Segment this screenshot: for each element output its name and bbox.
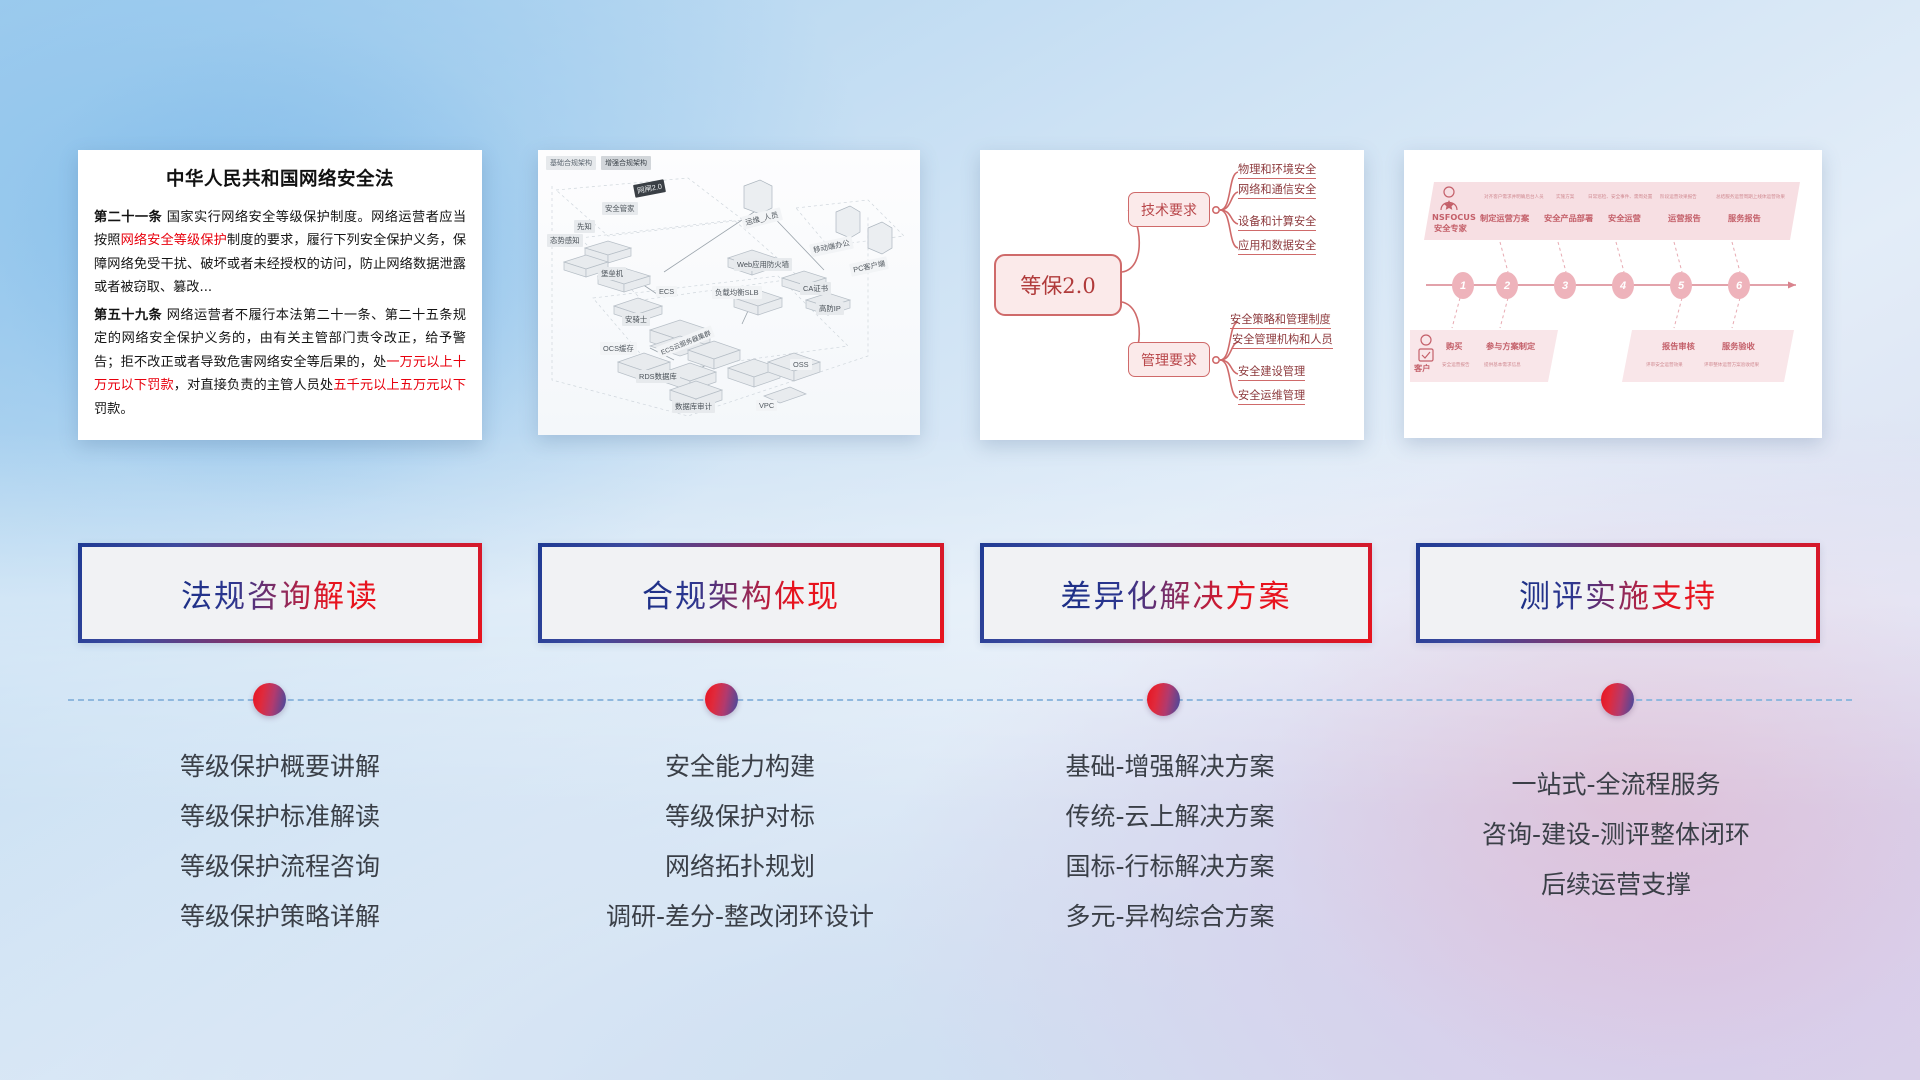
nsfocus-bottom-step-label: 服务验收 bbox=[1722, 340, 1755, 352]
nsfocus-top-step-label: 运营报告 bbox=[1668, 212, 1701, 224]
list-item: 多元-异构综合方案 bbox=[1065, 892, 1274, 942]
list-item: 等级保护对标 bbox=[665, 792, 815, 842]
nsfocus-step-number: 4 bbox=[1612, 272, 1634, 299]
mindmap-leaf: 安全运维管理 bbox=[1238, 387, 1305, 405]
node-label-slb: 负载均衡SLB bbox=[712, 286, 762, 299]
nsfocus-step-number: 6 bbox=[1728, 272, 1750, 299]
law-paragraph: 第五十九条 网络运营者不履行本法第二十一条、第二十五条规定的网络安全保护义务的，… bbox=[94, 304, 466, 422]
timeline-dot-3 bbox=[1147, 683, 1180, 716]
law-article-number: 第二十一条 bbox=[94, 210, 162, 225]
heading-box-differentiated-solution[interactable]: 差异化解决方案 bbox=[980, 543, 1372, 643]
list-item: 咨询-建设-测评整体闭环 bbox=[1482, 810, 1750, 860]
nsfocus-top-step-label: 安全运营 bbox=[1608, 212, 1641, 224]
heading-label: 合规架构体现 bbox=[642, 571, 840, 616]
list-item: 等级保护概要讲解 bbox=[180, 742, 380, 792]
law-title: 中华人民共和国网络安全法 bbox=[94, 164, 466, 197]
law-run: ，对直接负责的主管人员处 bbox=[174, 378, 333, 393]
node-label-situation-awareness: 态势感知 bbox=[547, 234, 583, 247]
law-article-number: 第五十九条 bbox=[94, 308, 162, 323]
law-run-highlight: 网络安全等级保护 bbox=[121, 233, 227, 248]
architecture-diagram: 基础合规架构 增强合规架构 bbox=[538, 150, 920, 435]
node-label-xianzhi: 先知 bbox=[574, 220, 595, 233]
heading-label: 法规咨询解读 bbox=[181, 571, 379, 616]
law-paragraph: 第二十一条 国家实行网络安全等级保护制度。网络运营者应当按照网络安全等级保护制度… bbox=[94, 206, 466, 300]
nsfocus-bottom-step-sub: 提供基本需求信息 bbox=[1484, 362, 1521, 368]
mindmap-leaf: 安全建设管理 bbox=[1238, 363, 1305, 381]
nsfocus-step-number: 1 bbox=[1452, 272, 1474, 299]
timeline-dot-1 bbox=[253, 683, 286, 716]
mindmap-leaf: 安全策略和管理制度 bbox=[1230, 311, 1331, 329]
heading-box-assessment-support[interactable]: 测评实施支持 bbox=[1416, 543, 1820, 643]
heading-box-compliance-architecture[interactable]: 合规架构体现 bbox=[538, 543, 944, 643]
node-label-db-audit: 数据库审计 bbox=[672, 400, 715, 413]
list-item: 等级保护标准解读 bbox=[180, 792, 380, 842]
heading-label: 测评实施支持 bbox=[1519, 571, 1717, 616]
heading-row: 法规咨询解读 合规架构体现 差异化解决方案 测评实施支持 bbox=[0, 543, 1920, 643]
mindmap-leaf: 应用和数据安全 bbox=[1238, 237, 1316, 255]
node-label-vpc: VPC bbox=[756, 400, 777, 411]
list-item: 后续运营支撑 bbox=[1541, 860, 1691, 910]
nsfocus-top-step-sub: 总结服务运营周期上线体运营效果 bbox=[1716, 194, 1785, 200]
node-label-ocs-cache: OCS缓存 bbox=[600, 342, 637, 355]
list-item: 等级保护流程咨询 bbox=[180, 842, 380, 892]
nsfocus-bottom-step-sub: 评审整体运营方案验收结果 bbox=[1704, 362, 1759, 368]
illustration-card-row: 中华人民共和国网络安全法 第二十一条 国家实行网络安全等级保护制度。网络运营者应… bbox=[0, 150, 1920, 440]
feature-lists: 等级保护概要讲解 等级保护标准解读 等级保护流程咨询 等级保护策略详解 安全能力… bbox=[0, 742, 1920, 982]
feature-list-differentiated-solution: 基础-增强解决方案 传统-云上解决方案 国标-行标解决方案 多元-异构综合方案 bbox=[960, 742, 1380, 942]
timeline-dashed-line bbox=[68, 699, 1852, 701]
law-run-highlight: 五千元以上五万元以下 bbox=[333, 378, 466, 393]
node-label-security-steward: 安全管家 bbox=[602, 202, 638, 215]
nsfocus-step-number: 3 bbox=[1554, 272, 1576, 299]
node-label-anti-ddos-ip: 高防IP bbox=[816, 302, 844, 315]
node-label-waf: Web应用防火墙 bbox=[734, 258, 792, 271]
feature-list-compliance-architecture: 安全能力构建 等级保护对标 网络拓扑规划 调研-差分-整改闭环设计 bbox=[530, 742, 950, 942]
nsfocus-timeline: NSFOCUS 安全专家 客户 对齐客户需求并明确后台人员 制定运营方案 实施方… bbox=[1404, 150, 1822, 438]
mindmap-leaf: 设备和计算安全 bbox=[1238, 213, 1316, 231]
list-item: 调研-差分-整改闭环设计 bbox=[606, 892, 874, 942]
nsfocus-top-step-label: 安全产品部署 bbox=[1544, 212, 1593, 224]
feature-list-assessment-support: 一站式-全流程服务 咨询-建设-测评整体闭环 后续运营支撑 bbox=[1400, 760, 1832, 910]
nsfocus-step-number: 2 bbox=[1496, 272, 1518, 299]
card-nsfocus-service-timeline[interactable]: NSFOCUS 安全专家 客户 对齐客户需求并明确后台人员 制定运营方案 实施方… bbox=[1404, 150, 1822, 438]
nsfocus-step-number: 5 bbox=[1670, 272, 1692, 299]
mindmap-branch-management[interactable]: 管理要求 bbox=[1128, 342, 1210, 377]
nsfocus-bottom-step-label: 报告审核 bbox=[1662, 340, 1695, 352]
nsfocus-bottom-step-sub: 评审安全运营效果 bbox=[1646, 362, 1683, 368]
list-item: 基础-增强解决方案 bbox=[1065, 742, 1274, 792]
law-body: 中华人民共和国网络安全法 第二十一条 国家实行网络安全等级保护制度。网络运营者应… bbox=[78, 150, 482, 435]
nsfocus-top-step-label: 服务报告 bbox=[1728, 212, 1761, 224]
feature-list-regulation-consulting: 等级保护概要讲解 等级保护标准解读 等级保护流程咨询 等级保护策略详解 bbox=[78, 742, 482, 942]
heading-box-regulation-consulting[interactable]: 法规咨询解读 bbox=[78, 543, 482, 643]
nsfocus-bottom-step-sub: 安全运营报告 bbox=[1442, 362, 1470, 368]
node-label-anqishi: 安骑士 bbox=[622, 313, 650, 326]
heading-label: 差异化解决方案 bbox=[1061, 571, 1292, 616]
mindmap-leaf: 网络和通信安全 bbox=[1238, 181, 1316, 199]
card-cybersecurity-law[interactable]: 中华人民共和国网络安全法 第二十一条 国家实行网络安全等级保护制度。网络运营者应… bbox=[78, 150, 482, 440]
nsfocus-expert-role: 安全专家 bbox=[1434, 222, 1467, 234]
nsfocus-top-step-sub: 日常巡检、安全事件、需周处置 bbox=[1588, 194, 1652, 200]
list-item: 等级保护策略详解 bbox=[180, 892, 380, 942]
nsfocus-expert-name: NSFOCUS bbox=[1432, 212, 1476, 222]
nsfocus-top-step-sub: 对齐客户需求并明确后台人员 bbox=[1484, 194, 1544, 200]
node-label-oss: OSS bbox=[790, 359, 812, 370]
card-compliance-architecture[interactable]: 基础合规架构 增强合规架构 bbox=[538, 150, 920, 435]
nsfocus-top-step-label: 制定运营方案 bbox=[1480, 212, 1529, 224]
mindmap-leaf: 物理和环境安全 bbox=[1238, 161, 1316, 179]
nsfocus-top-step-sub: 阶段运营效果报告 bbox=[1660, 194, 1697, 200]
mindmap-branch-technical[interactable]: 技术要求 bbox=[1128, 192, 1210, 227]
mindmap-root-node[interactable]: 等保2.0 bbox=[994, 254, 1122, 316]
node-label-rds-database: RDS数据库 bbox=[636, 370, 680, 383]
timeline-connector bbox=[0, 670, 1920, 730]
mindmap: 等保2.0 技术要求 管理要求 物理和环境安全 网络和通信安全 设备和计算安全 … bbox=[980, 150, 1364, 440]
list-item: 国标-行标解决方案 bbox=[1065, 842, 1274, 892]
timeline-dot-2 bbox=[705, 683, 738, 716]
card-mlps-mindmap[interactable]: 等保2.0 技术要求 管理要求 物理和环境安全 网络和通信安全 设备和计算安全 … bbox=[980, 150, 1364, 440]
nsfocus-top-step-sub: 实施方案 bbox=[1556, 194, 1574, 200]
nsfocus-customer-label: 客户 bbox=[1414, 362, 1430, 374]
nsfocus-bottom-step-label: 参与方案制定 bbox=[1486, 340, 1535, 352]
list-item: 传统-云上解决方案 bbox=[1065, 792, 1274, 842]
list-item: 一站式-全流程服务 bbox=[1511, 760, 1720, 810]
node-label-bastion-host: 堡垒机 bbox=[598, 267, 626, 280]
law-run: 罚款。 bbox=[94, 402, 134, 417]
timeline-dot-4 bbox=[1601, 683, 1634, 716]
node-label-ecs: ECS bbox=[656, 286, 677, 297]
node-label-ca-certificate: CA证书 bbox=[800, 282, 831, 295]
list-item: 安全能力构建 bbox=[665, 742, 815, 792]
nsfocus-bottom-step-label: 购买 bbox=[1446, 340, 1462, 352]
mindmap-leaf: 安全管理机构和人员 bbox=[1232, 331, 1333, 349]
list-item: 网络拓扑规划 bbox=[665, 842, 815, 892]
